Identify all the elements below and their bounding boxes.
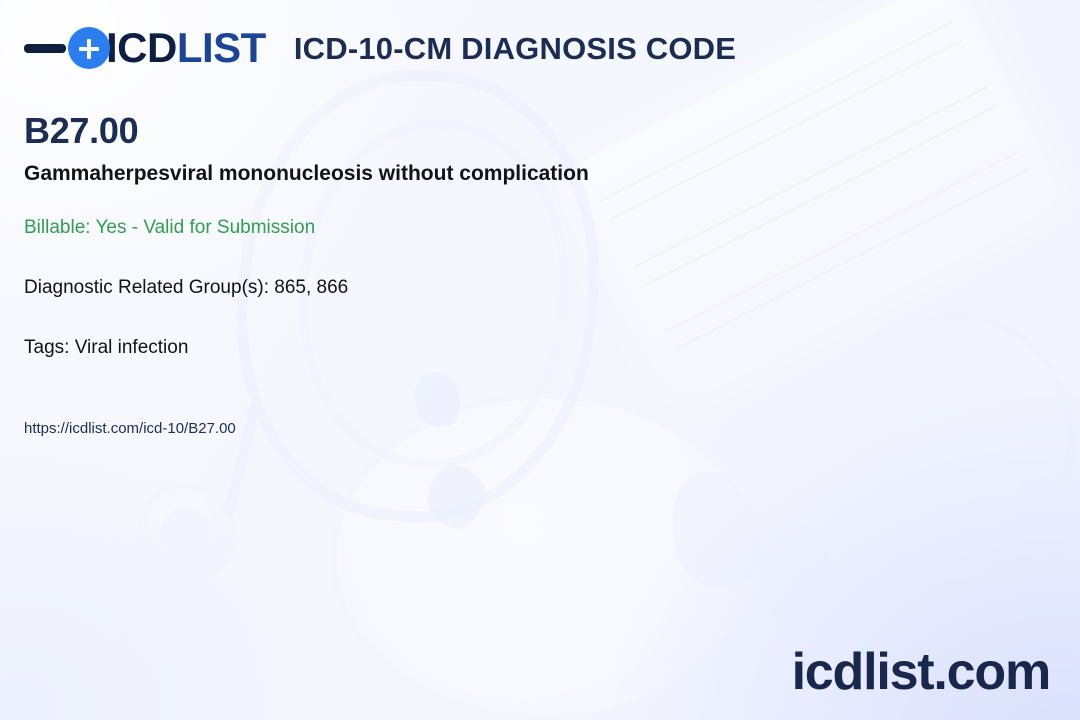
stethoscope-chestpiece-graphic xyxy=(140,488,232,580)
background-blob xyxy=(880,415,1040,595)
brand-wordmark: icdlist.com xyxy=(792,646,1050,698)
icd-code-card: ICDLIST ICD-10-CM DIAGNOSIS CODE B27.00 … xyxy=(0,0,1080,720)
source-url[interactable]: https://icdlist.com/icd-10/B27.00 xyxy=(24,420,924,438)
tags-line: Tags: Viral infection xyxy=(24,337,924,360)
icdlist-logo[interactable]: ICDLIST xyxy=(24,27,266,69)
plus-icon xyxy=(68,27,110,69)
page-title: ICD-10-CM DIAGNOSIS CODE xyxy=(294,33,736,64)
background-blob xyxy=(659,461,771,598)
diagnosis-code: B27.00 xyxy=(24,112,924,151)
tray-graphic xyxy=(330,392,760,720)
dash-icon xyxy=(24,44,66,53)
code-details: B27.00 Gammaherpesviral mononucleosis wi… xyxy=(24,112,924,438)
background-blob xyxy=(833,538,904,642)
background-blob xyxy=(754,517,835,634)
background-blob xyxy=(423,462,489,533)
diagnosis-description: Gammaherpesviral mononucleosis without c… xyxy=(24,161,924,186)
logo-text-list: LIST xyxy=(177,24,266,71)
header: ICDLIST ICD-10-CM DIAGNOSIS CODE xyxy=(0,0,1080,96)
billable-status: Billable: Yes - Valid for Submission xyxy=(24,217,924,240)
diagnostic-related-groups: Diagnostic Related Group(s): 865, 866 xyxy=(24,277,924,300)
logo-text-icd: ICD xyxy=(106,24,177,71)
